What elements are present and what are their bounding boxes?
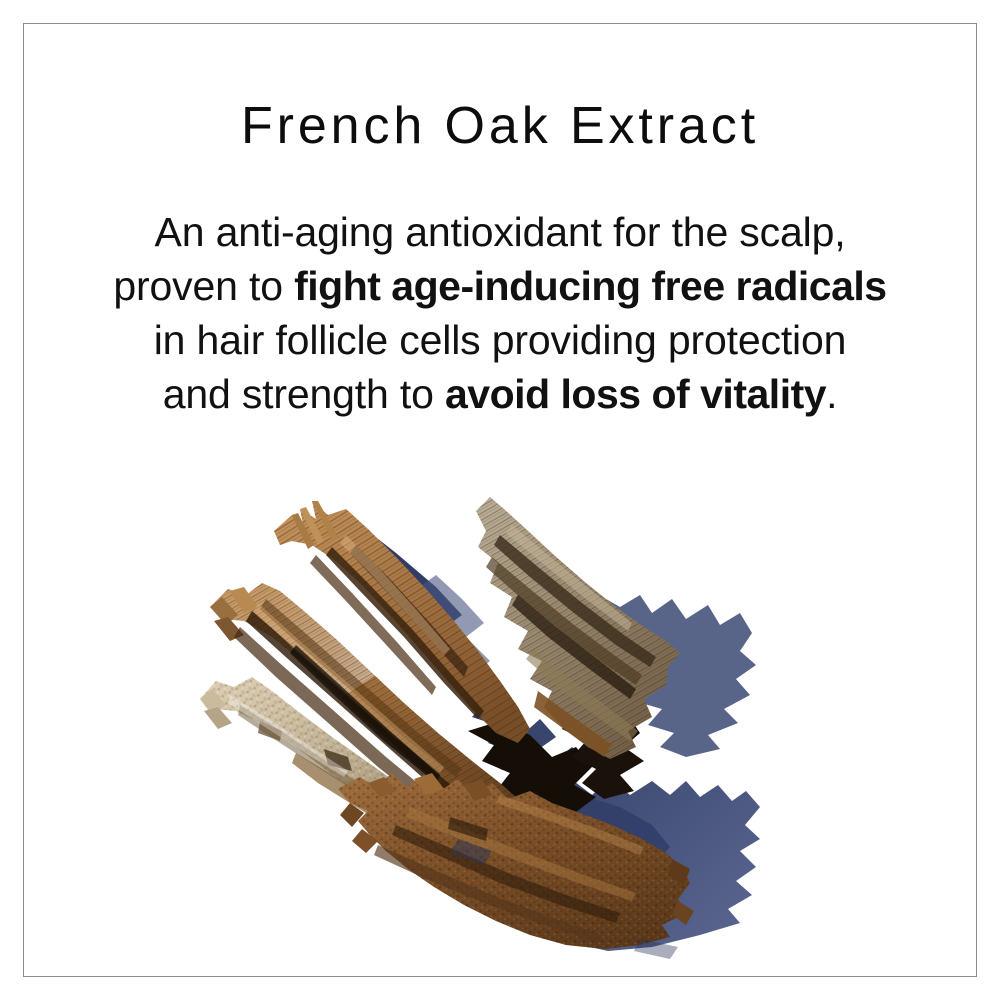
description-plain: and strength to <box>163 371 445 417</box>
description-emphasis: avoid loss of vitality <box>445 371 826 417</box>
page-title: French Oak Extract <box>0 100 1000 152</box>
ingredient-card: French Oak Extract An anti-aging antioxi… <box>0 0 1000 1000</box>
description-line-1: An anti-aging antioxidant for the scalp, <box>50 205 950 259</box>
description-plain: in hair follicle cells providing protect… <box>154 317 847 363</box>
description-plain: An anti-aging antioxidant for the scalp, <box>155 209 846 255</box>
description-line-3: in hair follicle cells providing protect… <box>50 313 950 367</box>
ingredient-photo <box>200 495 820 965</box>
description-line-4: and strength to avoid loss of vitality. <box>50 367 950 421</box>
description-emphasis: fight age-inducing free radicals <box>294 263 887 309</box>
bark-illustration <box>200 495 820 965</box>
description-line-2: proven to fight age-inducing free radica… <box>50 259 950 313</box>
description-plain: proven to <box>113 263 294 309</box>
description-text: An anti-aging antioxidant for the scalp,… <box>50 205 950 421</box>
description-plain: . <box>826 371 837 417</box>
